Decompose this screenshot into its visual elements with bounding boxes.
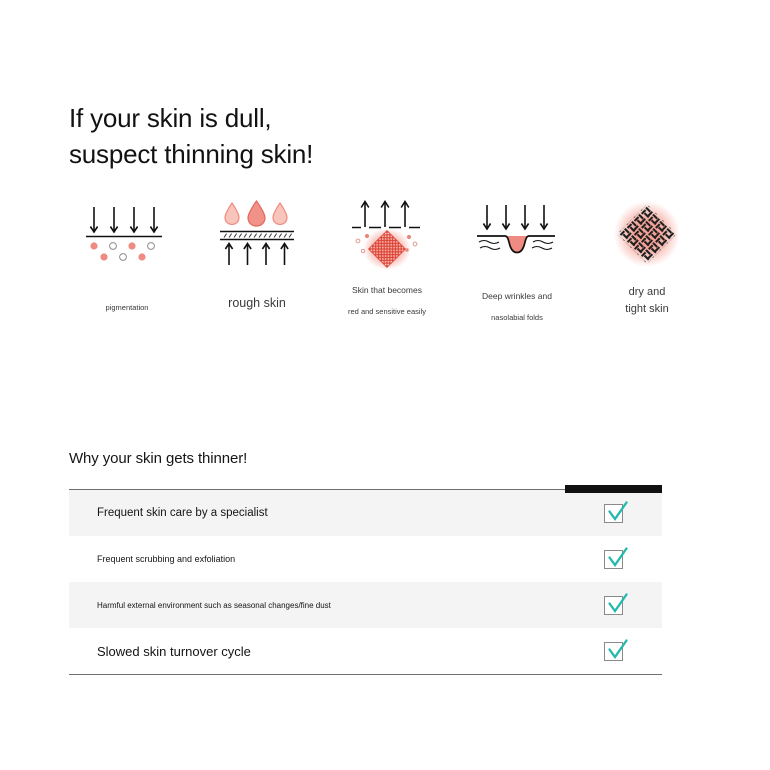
symptom-item-deep-wrinkles: Deep wrinkles and nasolabial folds: [452, 196, 582, 324]
symptom-list: pigmentation: [62, 196, 712, 324]
downward-arrows-wrinkle-fold-icon: [462, 196, 572, 272]
checkbox-checked[interactable]: [604, 594, 626, 616]
symptom-caption-line-1: rough skin: [228, 294, 286, 313]
symptom-caption-line-2: nasolabial folds: [482, 312, 552, 324]
symptom-caption-line-1: dry and: [625, 284, 668, 301]
checkbox-checked[interactable]: [604, 640, 626, 662]
checklist-bottom-divider: [69, 674, 662, 675]
symptom-item-red-sensitive-skin: Skin that becomes red and sensitive easi…: [322, 196, 452, 318]
list-item-label: Slowed skin turnover cycle: [97, 644, 604, 659]
symptom-item-pigmentation: pigmentation: [62, 196, 192, 314]
list-item[interactable]: Slowed skin turnover cycle: [69, 628, 662, 674]
symptom-caption: dry and tight skin: [625, 284, 668, 318]
symptom-caption: Deep wrinkles and nasolabial folds: [482, 290, 552, 324]
cause-checklist: Frequent skin care by a specialist Frequ…: [69, 489, 662, 675]
symptom-caption-line-2: tight skin: [625, 301, 668, 318]
checklist-top-divider: [69, 489, 662, 490]
list-item-label: Frequent scrubbing and exfoliation: [97, 554, 604, 564]
symptom-caption-line-1: Deep wrinkles and: [482, 290, 552, 303]
section-title-why-skin-thins: Why your skin gets thinner!: [69, 450, 247, 467]
accent-bar: [565, 485, 662, 493]
infographic-page: If your skin is dull, suspect thinning s…: [0, 0, 770, 770]
list-item[interactable]: Harmful external environment such as sea…: [69, 582, 662, 628]
page-title-line-2: suspect thinning skin!: [69, 136, 589, 172]
symptom-caption-line-2: red and sensitive easily: [348, 306, 426, 318]
check-icon: [605, 592, 629, 616]
water-droplets-rough-surface-icon: [202, 196, 312, 272]
symptom-item-rough-skin: rough skin: [192, 196, 322, 313]
symptom-caption: Skin that becomes red and sensitive easi…: [348, 284, 426, 318]
woven-diamond-tight-skin-icon: [592, 196, 702, 272]
list-item[interactable]: Frequent skin care by a specialist: [69, 490, 662, 536]
downward-arrows-pigment-dots-icon: [72, 196, 182, 272]
checkbox-checked[interactable]: [604, 548, 626, 570]
symptom-caption: pigmentation: [106, 302, 149, 314]
symptom-caption-line-1: pigmentation: [106, 302, 149, 314]
check-icon: [605, 500, 629, 524]
check-icon: [605, 546, 629, 570]
symptom-caption: rough skin: [228, 294, 286, 313]
symptom-caption-line-1: Skin that becomes: [348, 284, 426, 297]
checkbox-checked[interactable]: [604, 502, 626, 524]
page-title-line-1: If your skin is dull,: [69, 103, 271, 133]
page-title: If your skin is dull, suspect thinning s…: [69, 100, 589, 172]
list-item[interactable]: Frequent scrubbing and exfoliation: [69, 536, 662, 582]
check-icon: [605, 638, 629, 662]
list-item-label: Harmful external environment such as sea…: [97, 601, 604, 610]
symptom-item-dry-tight-skin: dry and tight skin: [582, 196, 712, 318]
list-item-label: Frequent skin care by a specialist: [97, 507, 604, 519]
upward-arrows-red-irritated-patch-icon: [332, 196, 442, 272]
